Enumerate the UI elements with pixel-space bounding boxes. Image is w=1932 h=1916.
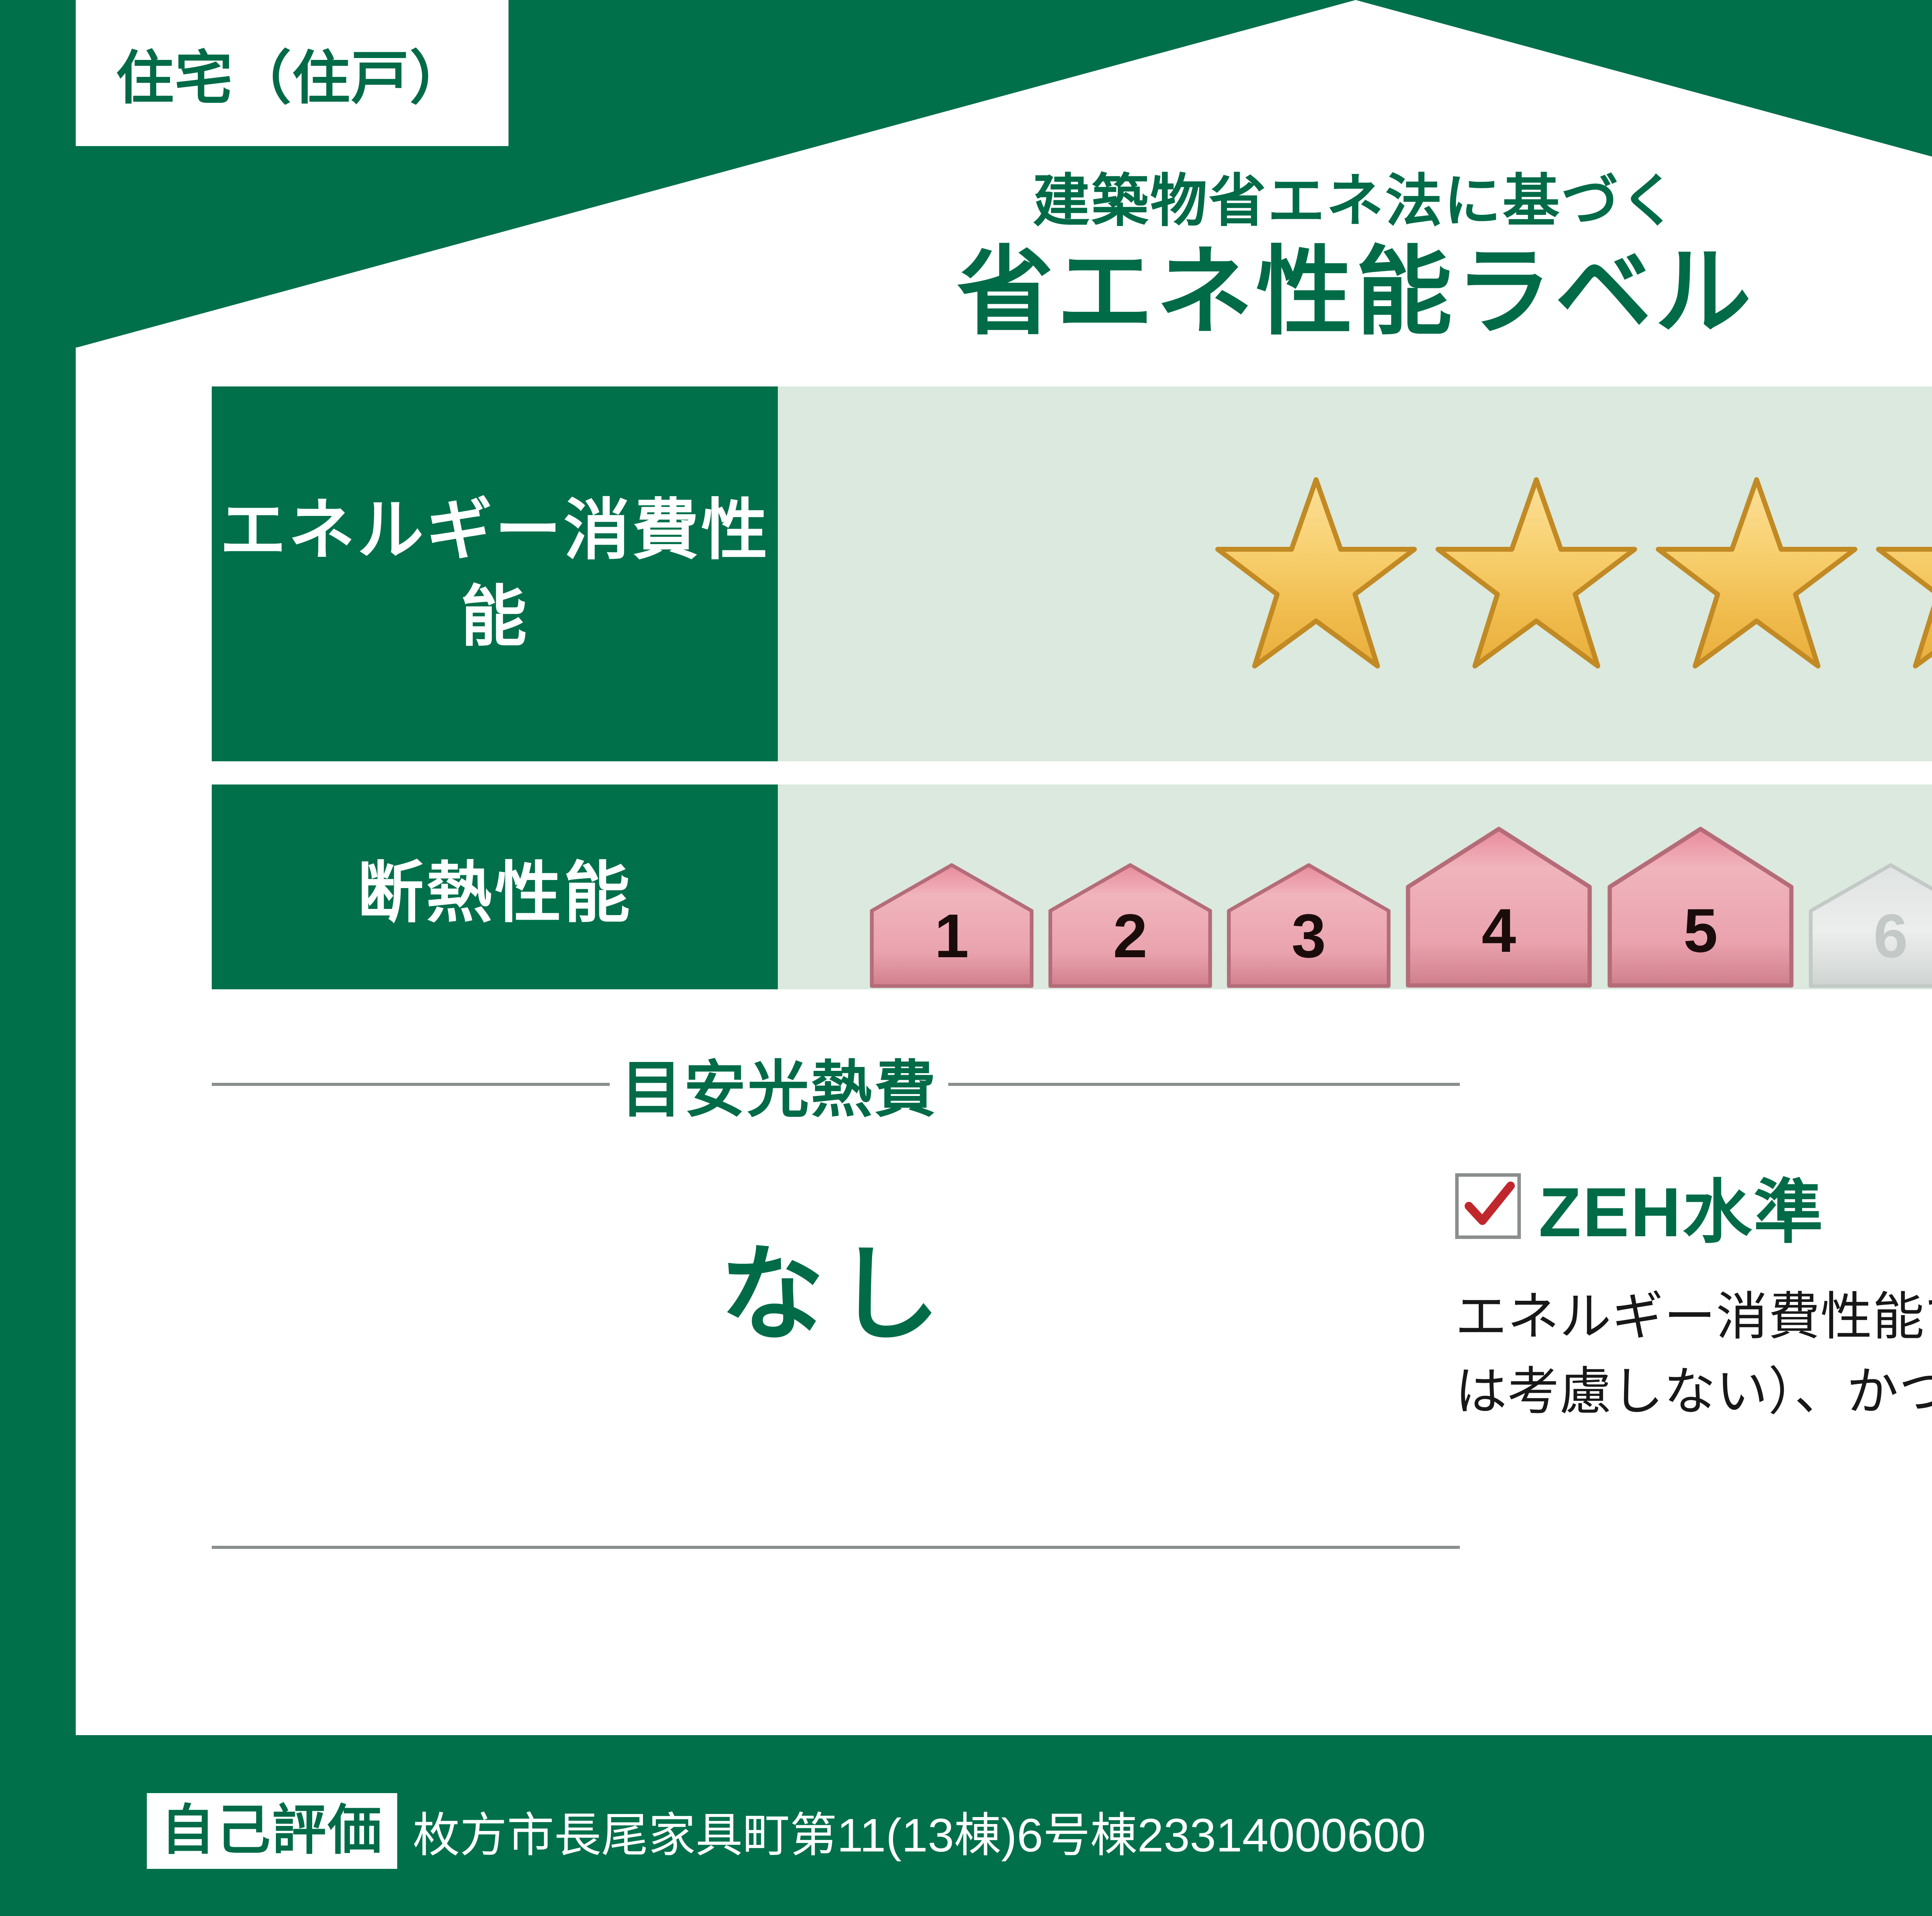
insulation-performance-label-text: 断熱性能	[357, 839, 633, 935]
property-address: 枚方市長尾家具町第11(13棟)6号棟23314000600	[413, 1797, 1426, 1865]
grade-house-5: 5	[1604, 825, 1797, 989]
grade-house-2: 2	[1045, 862, 1215, 989]
zeh-description: エネルギー消費性能で3つ（太陽光発電 は考慮しない）、かつ断熱性能で5を達成	[1455, 1280, 1932, 1430]
energy-performance-row: エネルギー消費性能	[212, 386, 1932, 761]
self-evaluation-badge: 自己評価	[147, 1793, 397, 1869]
grade-number: 3	[1224, 905, 1394, 967]
star-icon	[1214, 475, 1418, 672]
zeh-description-line-1: エネルギー消費性能で3つ（太陽光発電	[1455, 1280, 1932, 1354]
grade-house-4: 4	[1402, 825, 1595, 989]
divider-right	[948, 1083, 1460, 1086]
zeh-title: ZEH水準	[1539, 1155, 1825, 1256]
utility-cost-value: なし	[212, 1210, 1460, 1361]
zeh-checkbox[interactable]	[1455, 1173, 1521, 1239]
grade-number: 4	[1402, 900, 1595, 961]
grade-house-6: 6	[1806, 862, 1932, 989]
grade-house-3: 3	[1224, 862, 1394, 989]
zeh-heading-row: ZEH水準	[1455, 1155, 1932, 1256]
divider-left	[212, 1083, 610, 1086]
energy-performance-label-cell: エネルギー消費性能	[212, 386, 778, 761]
insulation-grade-scale: 1 2 3	[867, 784, 1932, 989]
check-icon	[1461, 1178, 1517, 1234]
energy-performance-value-cell	[778, 386, 1932, 761]
star-icon	[1874, 475, 1932, 672]
insulation-performance-label-cell: 断熱性能	[212, 784, 778, 989]
zeh-description-line-2: は考慮しない）、かつ断熱性能で5を達成	[1455, 1354, 1932, 1429]
grade-number: 1	[867, 905, 1037, 967]
footer-left: 自己評価 枚方市長尾家具町第11(13棟)6号棟23314000600	[147, 1793, 1426, 1869]
grade-number: 2	[1045, 905, 1215, 967]
energy-performance-label: 住宅（住戸） 再エネ設備なし 建築物省エネ法に基づく 省エネ性能ラベル エネルギ…	[0, 0, 1932, 1916]
zeh-desc-text-c: は考慮しない）、かつ断熱性能で	[1455, 1363, 1932, 1421]
energy-performance-label-text: エネルギー消費性能	[212, 487, 778, 660]
utility-cost-header: 目安光熱費	[212, 1040, 1460, 1129]
star-rating	[1214, 475, 1932, 672]
grade-number: 5	[1604, 900, 1797, 961]
star-icon	[1654, 475, 1859, 672]
grade-number: 6	[1806, 905, 1932, 967]
insulation-performance-row: 断熱性能	[212, 784, 1932, 989]
utility-cost-bottom-divider	[212, 1546, 1460, 1549]
star-icon	[1434, 475, 1639, 672]
utility-cost-title: 目安光熱費	[621, 1040, 937, 1129]
grade-house-1: 1	[867, 862, 1037, 989]
zeh-standard-block: ZEH水準 エネルギー消費性能で3つ（太陽光発電 は考慮しない）、かつ断熱性能で…	[1455, 1155, 1932, 1430]
label-content: エネルギー消費性能	[76, 0, 1932, 1735]
insulation-performance-value-cell: 1 2 3	[778, 784, 1932, 989]
zeh-desc-text-a: エネルギー消費性能で	[1455, 1288, 1932, 1346]
